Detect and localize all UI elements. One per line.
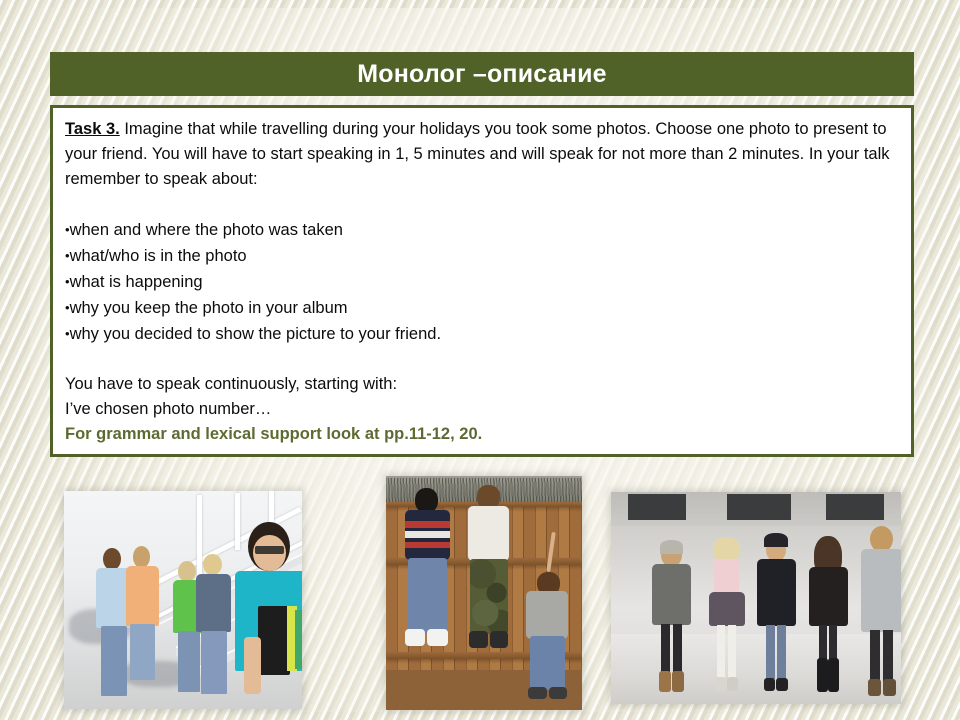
- list-item-label: why you decided to show the picture to y…: [70, 325, 441, 343]
- list-item-label: when and where the photo was taken: [70, 221, 343, 239]
- task-content-box: Task 3. Imagine that while travelling du…: [50, 105, 914, 457]
- slide-title-bar: Монолог –описание: [50, 52, 914, 96]
- list-item: •what/who is in the photo: [65, 243, 899, 269]
- task-intro-text: Imagine that while travelling during you…: [65, 120, 890, 188]
- closing-line-1: You have to speak continuously, starting…: [65, 372, 899, 397]
- list-item: •why you keep the photo in your album: [65, 295, 899, 321]
- closing-line-2: I’ve chosen photo number…: [65, 397, 899, 422]
- photo-2-image: [386, 476, 582, 710]
- photo-thumbnail-1[interactable]: [64, 491, 302, 709]
- task-label: Task 3.: [65, 120, 120, 138]
- list-item-label: why you keep the photo in your album: [70, 299, 348, 317]
- photo-3-image: [611, 492, 901, 704]
- page-title: Монолог –описание: [357, 62, 607, 87]
- photo-1-image: [64, 491, 302, 709]
- task-bullet-list: •when and where the photo was taken •wha…: [65, 217, 899, 347]
- photo-thumbnail-3[interactable]: [611, 492, 901, 704]
- list-item-label: what/who is in the photo: [70, 247, 247, 265]
- list-item-label: what is happening: [70, 273, 203, 291]
- list-item: •when and where the photo was taken: [65, 217, 899, 243]
- photo-thumbnail-2[interactable]: [386, 476, 582, 710]
- list-item: •why you decided to show the picture to …: [65, 321, 899, 347]
- slide-canvas: Монолог –описание Task 3. Imagine that w…: [0, 0, 960, 720]
- task-intro-paragraph: Task 3. Imagine that while travelling du…: [65, 117, 899, 192]
- task-closing-block: You have to speak continuously, starting…: [65, 372, 899, 447]
- list-item: •what is happening: [65, 269, 899, 295]
- grammar-support-line: For grammar and lexical support look at …: [65, 422, 899, 447]
